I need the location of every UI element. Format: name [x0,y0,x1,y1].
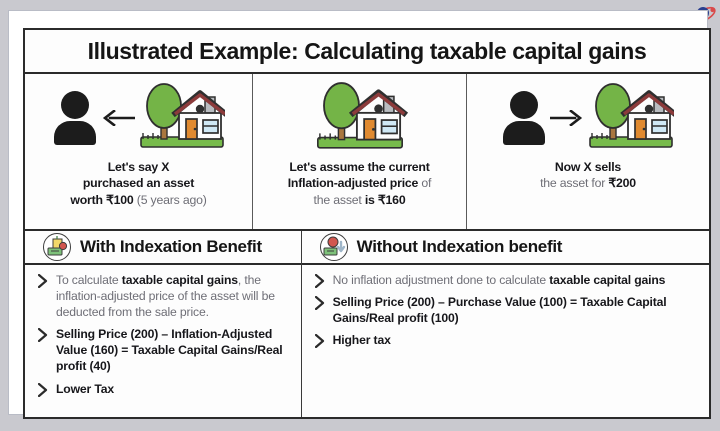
column-without-indexation: Without Indexation benefit No inflation … [302,231,709,417]
panel-sale-caption: Now X sellsthe asset for ₹200 [532,159,644,192]
column-with-indexation-bullets: To calculate taxable capital gains, the … [25,265,301,409]
list-item-text: Selling Price (200) – Purchase Value (10… [333,294,699,326]
list-item: Selling Price (200) – Inflation-Adjusted… [38,326,291,374]
panel-purchase: Let's say Xpurchased an assetworth ₹100 … [25,74,253,229]
list-item-text: Selling Price (200) – Inflation-Adjusted… [56,326,291,374]
person-silhouette-icon [502,91,546,145]
title-row: Illustrated Example: Calculating taxable… [25,30,709,74]
list-item: Higher tax [315,332,699,348]
panel-purchase-caption: Let's say Xpurchased an assetworth ₹100 … [62,159,214,208]
list-item: To calculate taxable capital gains, the … [38,272,291,320]
list-item: Selling Price (200) – Purchase Value (10… [315,294,699,326]
outer-frame: Illustrated Example: Calculating taxable… [8,10,708,415]
example-panels: Let's say Xpurchased an assetworth ₹100 … [25,74,709,231]
panel-inflation-art [312,82,408,154]
comparison-columns: With Indexation Benefit To calculate tax… [25,231,709,417]
list-item-text: Higher tax [333,332,391,348]
panel-purchase-art [53,82,225,154]
list-item: Lower Tax [38,381,291,397]
house-with-tree-icon [588,83,674,153]
chevron-right-icon [38,274,49,288]
house-with-tree-icon [312,82,408,154]
house-with-tree-icon [139,83,225,153]
infographic-page: Illustrated Example: Calculating taxable… [0,0,720,431]
column-without-indexation-title: Without Indexation benefit [357,237,562,257]
chevron-right-icon [315,334,326,348]
column-with-indexation-header: With Indexation Benefit [25,231,301,265]
money-decline-arrow-icon [320,233,348,261]
list-item-text: To calculate taxable capital gains, the … [56,272,291,320]
list-item-text: No inflation adjustment done to calculat… [333,272,666,288]
arrow-right-icon [550,110,584,126]
person-silhouette-icon [53,91,97,145]
panel-sale: Now X sellsthe asset for ₹200 [467,74,709,229]
list-item-text: Lower Tax [56,381,114,397]
money-plant-growth-icon [43,233,71,261]
arrow-left-icon [101,110,135,126]
list-item: No inflation adjustment done to calculat… [315,272,699,288]
chevron-right-icon [38,328,49,342]
page-title: Illustrated Example: Calculating taxable… [88,38,647,65]
panel-sale-art [502,82,674,154]
column-with-indexation-title: With Indexation Benefit [80,237,262,257]
infographic-table: Illustrated Example: Calculating taxable… [23,28,711,419]
column-without-indexation-bullets: No inflation adjustment done to calculat… [302,265,709,360]
panel-inflation-caption: Let's assume the currentInflation-adjust… [280,159,440,208]
panel-inflation-adjusted: Let's assume the currentInflation-adjust… [253,74,467,229]
chevron-right-icon [315,274,326,288]
column-with-indexation: With Indexation Benefit To calculate tax… [25,231,302,417]
chevron-right-icon [38,383,49,397]
column-without-indexation-header: Without Indexation benefit [302,231,709,265]
chevron-right-icon [315,296,326,310]
